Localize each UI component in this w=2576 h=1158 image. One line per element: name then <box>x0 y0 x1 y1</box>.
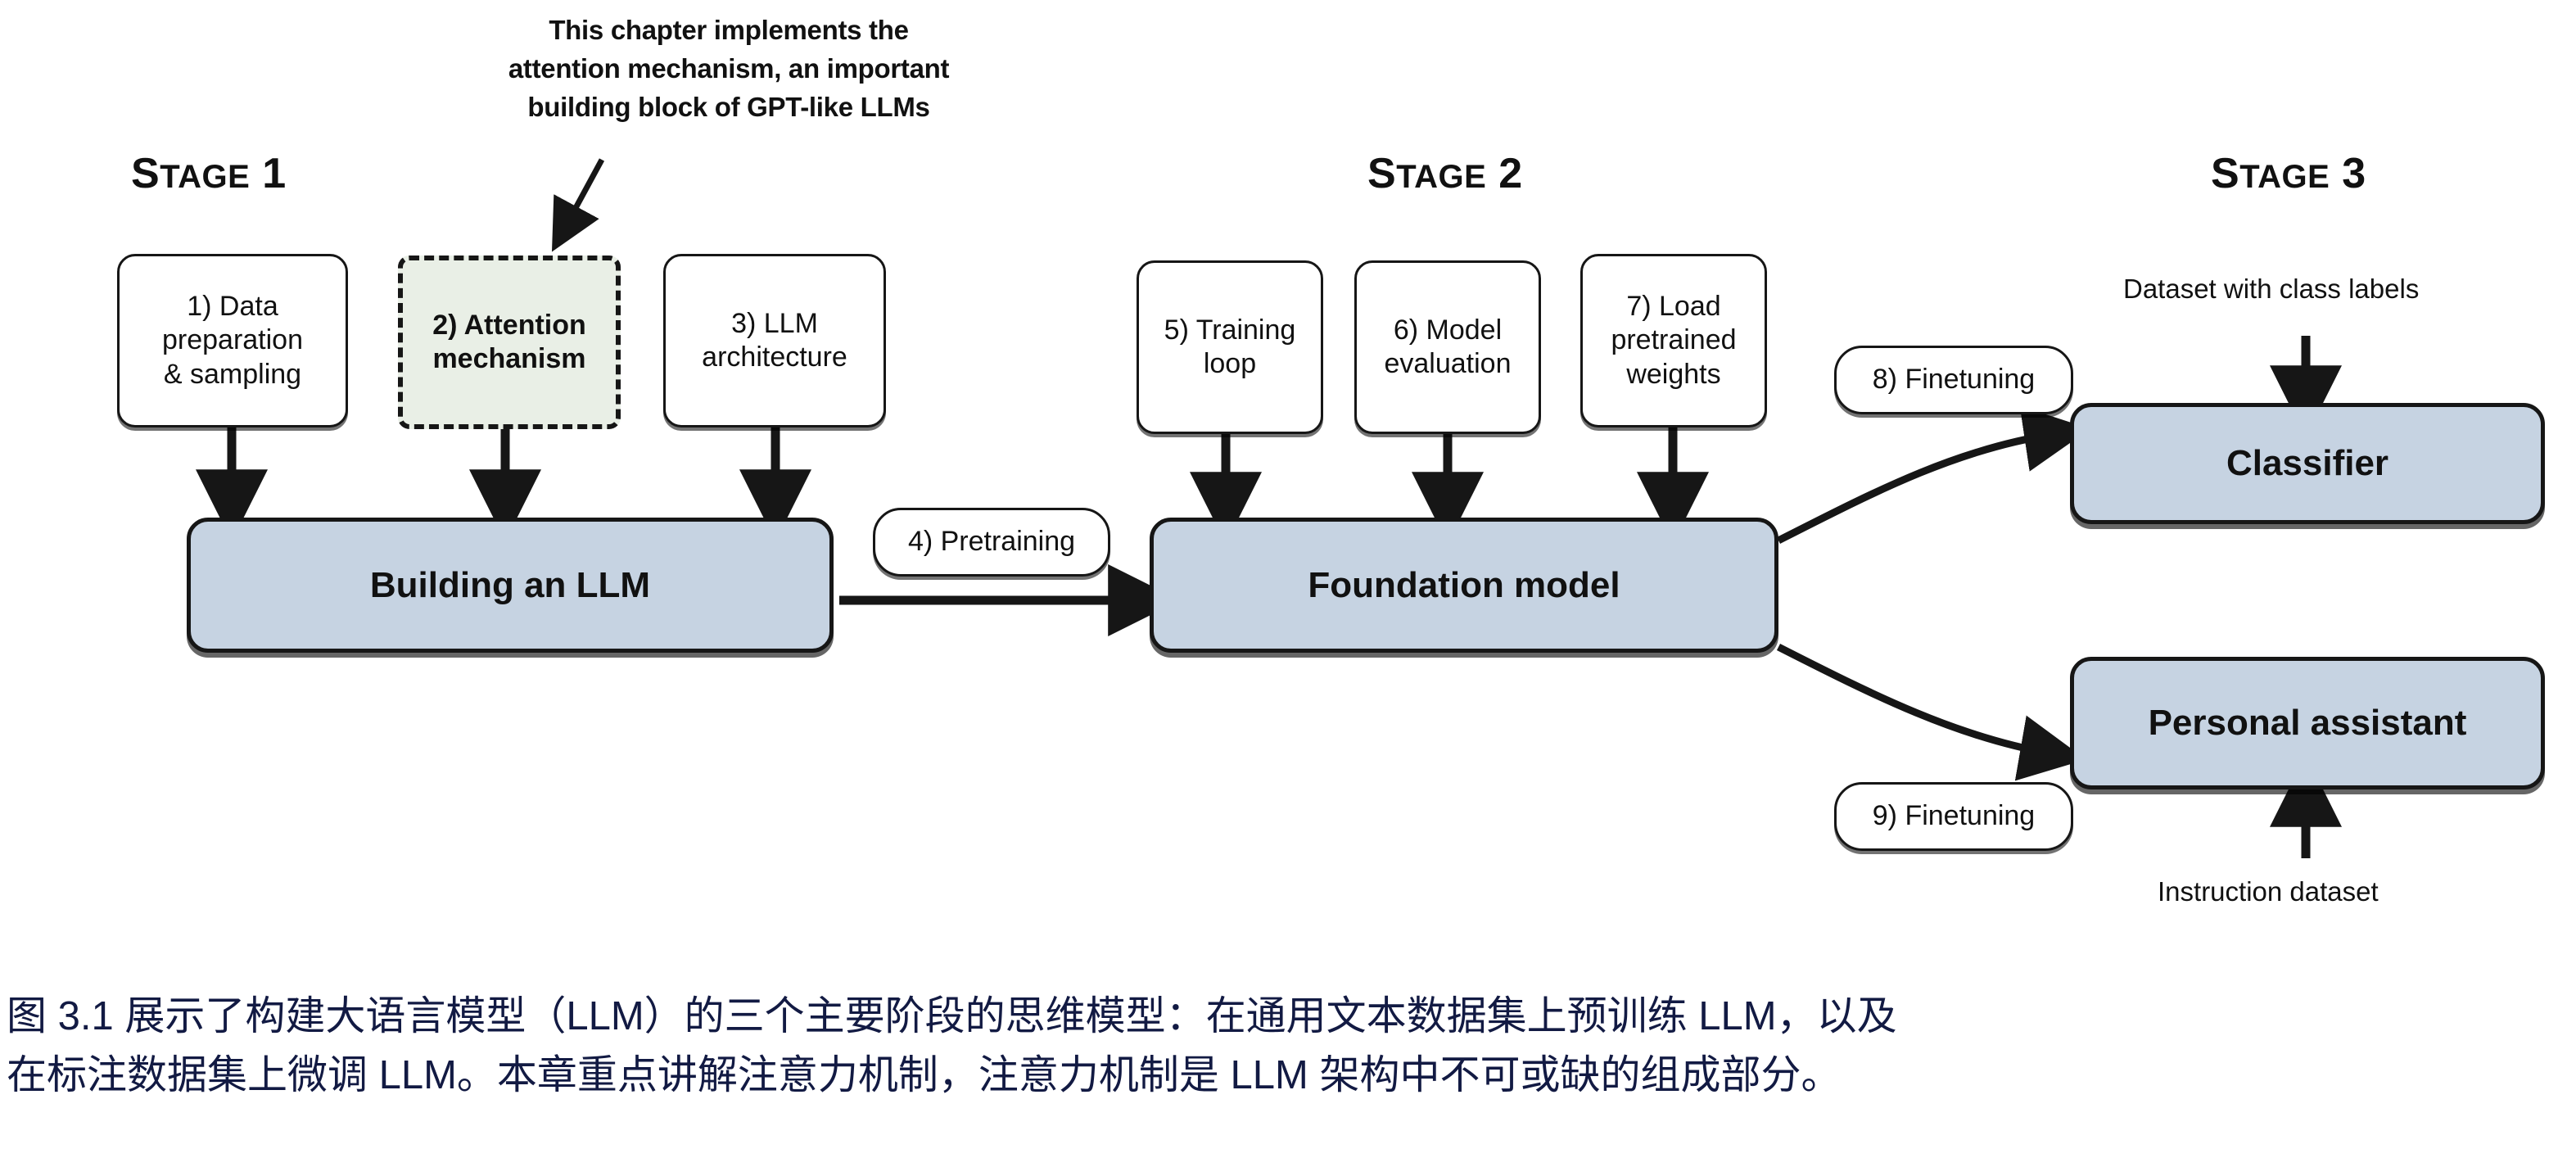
callout-arrow <box>565 160 602 228</box>
stage-2-header-number: 2 <box>1486 150 1522 197</box>
box-attention-mechanism-line-1: 2) Attention <box>432 309 586 342</box>
box-training-loop-line-1: 5) Training <box>1164 314 1296 347</box>
callout-line-2: attention mechanism, an important <box>442 50 1015 88</box>
stage-3-header-cap: S <box>2211 150 2239 197</box>
box-foundation-model-label: Foundation model <box>1308 563 1620 608</box>
box-model-evaluation-line-2: evaluation <box>1384 347 1511 381</box>
label-instruction-dataset-text: Instruction dataset <box>2158 876 2379 907</box>
box-model-evaluation-line-1: 6) Model <box>1384 314 1511 347</box>
stage-2-header-rest: TAGE <box>1396 159 1486 195</box>
callout-line-3: building block of GPT-like LLMs <box>442 88 1015 127</box>
label-instruction-dataset: Instruction dataset <box>2158 878 2379 905</box>
stage-3-header: STAGE 3 <box>2211 152 2366 195</box>
label-finetuning-8-text: 8) Finetuning <box>1873 363 2035 396</box>
label-dataset-with-class-labels-text: Dataset with class labels <box>2123 274 2419 304</box>
box-foundation-model[interactable]: Foundation model <box>1150 518 1778 653</box>
box-llm-architecture[interactable]: 3) LLM architecture <box>663 254 886 427</box>
box-attention-mechanism-line-2: mechanism <box>432 342 586 376</box>
stage-1-header-number: 1 <box>250 150 286 197</box>
box-classifier-label: Classifier <box>2226 441 2388 486</box>
figure-diagram: This chapter implements the attention me… <box>0 0 2576 966</box>
stage2-down-arrows <box>1226 426 1673 506</box>
label-finetuning-8[interactable]: 8) Finetuning <box>1834 346 2073 414</box>
stage-2-header-cap: S <box>1367 150 1396 197</box>
box-data-preparation[interactable]: 1) Data preparation & sampling <box>117 254 348 427</box>
box-load-pretrained-weights[interactable]: 7) Load pretrained weights <box>1580 254 1767 427</box>
label-pretraining-text: 4) Pretraining <box>908 525 1075 559</box>
box-training-loop[interactable]: 5) Training loop <box>1137 260 1323 434</box>
label-finetuning-9[interactable]: 9) Finetuning <box>1834 782 2073 851</box>
box-building-an-llm-label: Building an LLM <box>370 563 650 608</box>
stage-1-header: STAGE 1 <box>131 152 287 195</box>
figure-caption-line-1: 图 3.1 展示了构建大语言模型（LLM）的三个主要阶段的思维模型：在通用文本数… <box>7 987 2569 1046</box>
callout-note: This chapter implements the attention me… <box>442 11 1015 127</box>
figure-caption-line-2: 在标注数据集上微调 LLM。本章重点讲解注意力机制，注意力机制是 LLM 架构中… <box>7 1046 2569 1105</box>
label-dataset-with-class-labels: Dataset with class labels <box>2123 275 2419 302</box>
box-llm-architecture-line-2: architecture <box>702 341 847 374</box>
label-finetuning-9-text: 9) Finetuning <box>1873 799 2035 833</box>
box-llm-architecture-line-1: 3) LLM <box>702 307 847 341</box>
label-pretraining[interactable]: 4) Pretraining <box>873 508 1110 577</box>
box-data-preparation-line-2: preparation <box>162 323 303 357</box>
stage-3-header-rest: TAGE <box>2239 159 2330 195</box>
box-building-an-llm[interactable]: Building an LLM <box>187 518 834 653</box>
box-load-pretrained-weights-line-1: 7) Load <box>1611 290 1736 323</box>
figure-caption: 图 3.1 展示了构建大语言模型（LLM）的三个主要阶段的思维模型：在通用文本数… <box>7 987 2569 1105</box>
stage-2-header: STAGE 2 <box>1367 152 1523 195</box>
box-attention-mechanism[interactable]: 2) Attention mechanism <box>398 256 621 429</box>
box-data-preparation-line-3: & sampling <box>162 358 303 391</box>
callout-line-1: This chapter implements the <box>442 11 1015 50</box>
branch-arrows <box>1778 434 2055 753</box>
box-model-evaluation[interactable]: 6) Model evaluation <box>1354 260 1541 434</box>
box-personal-assistant-label: Personal assistant <box>2149 701 2467 745</box>
box-training-loop-line-2: loop <box>1164 347 1296 381</box>
box-load-pretrained-weights-line-3: weights <box>1611 358 1736 391</box>
box-classifier[interactable]: Classifier <box>2070 403 2545 524</box>
box-data-preparation-line-1: 1) Data <box>162 290 303 323</box>
stage-3-header-number: 3 <box>2330 150 2366 197</box>
stage-1-header-cap: S <box>131 150 160 197</box>
stage-1-header-rest: TAGE <box>160 159 250 195</box>
box-personal-assistant[interactable]: Personal assistant <box>2070 657 2545 789</box>
box-load-pretrained-weights-line-2: pretrained <box>1611 323 1736 357</box>
stage1-down-arrows <box>232 426 775 504</box>
